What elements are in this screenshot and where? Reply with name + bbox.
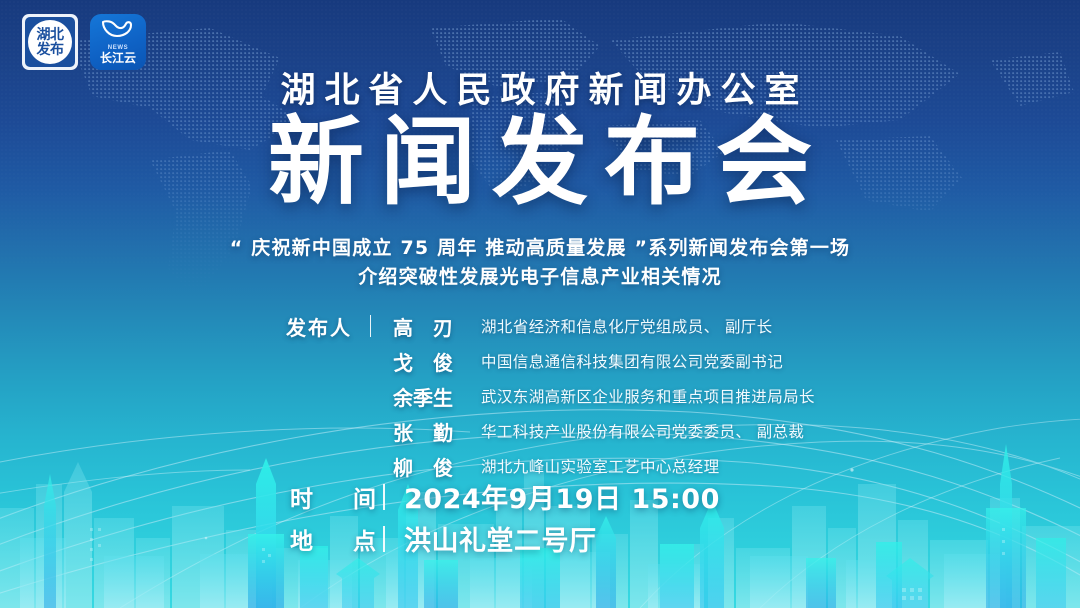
time-label: 时 间 xyxy=(290,480,376,514)
subtitle-block: “ 庆祝新中国成立 75 周年 推动高质量发展 ”系列新闻发布会第一场 介绍突破… xyxy=(0,234,1080,293)
subtitle-line-2: 介绍突破性发展光电子信息产业相关情况 xyxy=(0,263,1080,292)
hubei-logo-line1: 湖北 xyxy=(37,28,64,42)
swan-bird-icon xyxy=(101,20,135,45)
divider-bar-spacer xyxy=(364,455,377,477)
location-label-char-1: 地 xyxy=(290,522,313,556)
speaker-name: 高 刃 xyxy=(377,312,469,341)
logo-group: 湖北 发布 NEWS 长江云 xyxy=(22,14,146,70)
time-label-char-2: 间 xyxy=(353,480,376,514)
location-label: 地 点 xyxy=(290,522,376,556)
changjiang-cloud-label: 长江云 xyxy=(100,52,136,64)
speaker-section-label: 发布人 xyxy=(286,312,364,341)
hubei-release-logo[interactable]: 湖北 发布 xyxy=(22,14,78,70)
speaker-title: 华工科技产业股份有限公司党委委员、 副总裁 xyxy=(469,420,1080,442)
speaker-title: 湖北省经济和信息化厅党组成员、 副厅长 xyxy=(469,315,1080,337)
speaker-row: 余季生 武汉东湖高新区企业服务和重点项目推进局局长 xyxy=(0,380,1080,412)
speaker-row: 发布人 高 刃 湖北省经济和信息化厅党组成员、 副厅长 xyxy=(0,310,1080,342)
speaker-name: 余季生 xyxy=(377,382,469,411)
meta-row-location: 地 点 洪山礼堂二号厅 xyxy=(0,520,1080,557)
meta-row-time: 时 间 2024年9月19日 15:00 xyxy=(0,478,1080,515)
speaker-row: 张 勤 华工科技产业股份有限公司党委委员、 副总裁 xyxy=(0,415,1080,447)
divider-bar xyxy=(376,484,392,510)
speaker-title: 湖北九峰山实验室工艺中心总经理 xyxy=(469,455,1080,477)
subtitle-line-1: “ 庆祝新中国成立 75 周年 推动高质量发展 ”系列新闻发布会第一场 xyxy=(230,237,851,259)
divider-bar xyxy=(376,526,392,552)
speaker-list: 发布人 高 刃 湖北省经济和信息化厅党组成员、 副厅长 戈 俊 中国信息通信科技… xyxy=(0,310,1080,485)
changjiang-cloud-logo[interactable]: NEWS 长江云 xyxy=(90,14,146,70)
poster-content: 湖北省人民政府新闻办公室 新闻发布会 “ 庆祝新中国成立 75 周年 推动高质量… xyxy=(0,0,1080,608)
page-title: 新闻发布会 xyxy=(0,106,1080,219)
press-conference-poster: 湖北 发布 NEWS 长江云 湖北省人民政府新闻办公室 新闻发布会 “ 庆祝新中… xyxy=(0,0,1080,608)
divider-bar xyxy=(364,315,377,337)
speaker-name: 张 勤 xyxy=(377,417,469,446)
speaker-row: 戈 俊 中国信息通信科技集团有限公司党委副书记 xyxy=(0,345,1080,377)
location-label-char-2: 点 xyxy=(353,522,376,556)
time-label-char-1: 时 xyxy=(290,480,313,514)
event-meta: 时 间 2024年9月19日 15:00 地 点 洪山礼堂二号厅 xyxy=(0,478,1080,562)
divider-bar-spacer xyxy=(364,420,377,442)
news-badge-label: NEWS xyxy=(108,45,128,51)
hubei-logo-line2: 发布 xyxy=(37,43,64,57)
divider-bar-spacer xyxy=(364,350,377,372)
divider-bar-spacer xyxy=(364,385,377,407)
speaker-title: 中国信息通信科技集团有限公司党委副书记 xyxy=(469,350,1080,372)
event-location: 洪山礼堂二号厅 xyxy=(392,519,1080,558)
speaker-name: 戈 俊 xyxy=(377,347,469,376)
event-datetime: 2024年9月19日 15:00 xyxy=(392,477,1080,516)
speaker-title: 武汉东湖高新区企业服务和重点项目推进局局长 xyxy=(469,385,1080,407)
